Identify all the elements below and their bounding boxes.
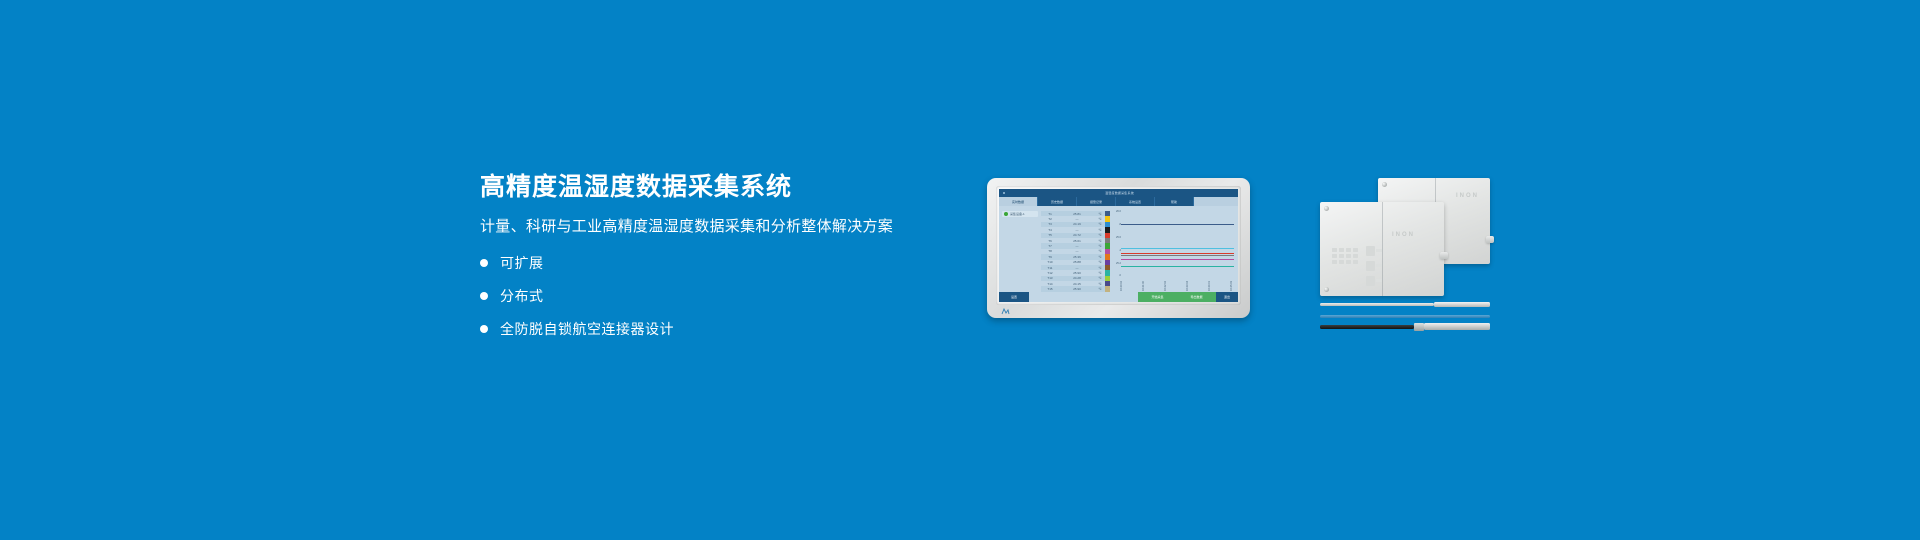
table-row[interactable]: T4---℃ [1041, 227, 1105, 232]
monitor-logo-icon [1001, 308, 1010, 315]
x-axis-tick: 16:25:03 [1231, 279, 1234, 291]
channel-name: T10 [1041, 260, 1059, 264]
device-tree-panel: 采集设备-1 [999, 206, 1041, 292]
feature-item-2: 全防脱自锁航空连接器设计 [480, 319, 950, 339]
chart-plot-area [1121, 211, 1234, 278]
y-axis-tick: 25.2 [1112, 263, 1121, 266]
chart-series-line [1121, 255, 1234, 256]
enclosure-seam [1382, 202, 1383, 296]
channel-unit: ℃ [1095, 287, 1105, 291]
y-axis-tick: .0 [1112, 275, 1121, 278]
footer-spacer [1029, 292, 1138, 302]
probe-cable [1320, 325, 1414, 329]
channel-value: --- [1059, 228, 1095, 232]
enclosure-connector-port [1440, 252, 1448, 259]
chart-series-line [1121, 266, 1234, 267]
channel-value: --- [1059, 266, 1095, 270]
channel-name: T1 [1041, 212, 1059, 216]
channel-value: 24.19 [1059, 222, 1095, 226]
channel-unit: ℃ [1095, 239, 1105, 243]
table-row[interactable]: T1025.88℃ [1041, 260, 1105, 265]
feature-label: 分布式 [500, 286, 544, 306]
tab-alarm-log[interactable]: 报警记录 [1077, 197, 1116, 206]
x-axis-tick: 16:24:01 [1209, 279, 1212, 291]
y-axis-tick: 26.0 [1112, 211, 1121, 214]
table-row[interactable]: T2---℃ [1041, 216, 1105, 221]
feature-list: 可扩展 分布式 全防脱自锁航空连接器设计 [480, 253, 950, 339]
channel-value: --- [1059, 249, 1095, 253]
brand-logo: INON [1456, 193, 1479, 199]
channel-unit: ℃ [1095, 271, 1105, 275]
channel-name: T3 [1041, 222, 1059, 226]
channel-unit: ℃ [1095, 266, 1105, 270]
blue-cable-probe [1320, 314, 1490, 319]
hero-banner: 高精度温湿度数据采集系统 计量、科研与工业高精度温湿度数据采集和分析整体解决方案… [0, 0, 1920, 540]
chart-y-axis: 26.0.825.6.425.2.0 [1112, 211, 1121, 278]
x-axis-tick: 16:23:04 [1187, 279, 1190, 291]
channel-value: 25.90 [1059, 271, 1095, 275]
enclosure-terminal-blocks [1366, 246, 1375, 286]
table-row[interactable]: T524.72℃ [1041, 233, 1105, 238]
channel-name: T9 [1041, 255, 1059, 259]
channel-name: T14 [1041, 282, 1059, 286]
x-axis-tick: 16:21:00 [1143, 279, 1146, 291]
bullet-dot-icon [480, 259, 488, 267]
enclosure-connector-port [1486, 236, 1494, 243]
channel-name: T12 [1041, 271, 1059, 275]
tab-history-data[interactable]: 历史数据 [1038, 197, 1077, 206]
table-row[interactable]: T8---℃ [1041, 249, 1105, 254]
channel-value: --- [1059, 217, 1095, 221]
start-acquisition-button[interactable]: 开始采集 [1138, 292, 1177, 302]
enclosure-screw-icon [1324, 287, 1329, 292]
bullet-dot-icon [480, 292, 488, 300]
table-row[interactable]: T925.36℃ [1041, 254, 1105, 259]
feature-label: 全防脱自锁航空连接器设计 [500, 319, 674, 339]
channel-unit: ℃ [1095, 228, 1105, 232]
device-tree-node-label: 采集设备-1 [1010, 212, 1025, 216]
settings-button[interactable]: 设置 [999, 292, 1029, 302]
stainless-temperature-probe [1320, 302, 1490, 307]
channel-name: T15 [1041, 287, 1059, 291]
table-row[interactable]: T625.61℃ [1041, 238, 1105, 243]
channel-unit: ℃ [1095, 212, 1105, 216]
chart-series-line [1121, 248, 1234, 249]
channel-name: T2 [1041, 217, 1059, 221]
software-body: 采集设备-1 T125.81℃T2---℃T324.19℃T4---℃T524.… [999, 206, 1238, 292]
tab-bar-filler [1194, 197, 1238, 206]
tab-help[interactable]: 帮助 [1155, 197, 1194, 206]
channel-value: 24.15 [1059, 282, 1095, 286]
hero-copy-block: 高精度温湿度数据采集系统 计量、科研与工业高精度温湿度数据采集和分析整体解决方案… [480, 172, 950, 352]
data-logger-enclosure-front: INON [1320, 202, 1444, 296]
monitor-product-image: 温湿度数据采集系统 实时数据 历史数据 报警记录 系统设置 帮助 [987, 178, 1250, 318]
table-row[interactable]: T1424.15℃ [1041, 281, 1105, 286]
y-axis-tick: 25.6 [1112, 237, 1121, 240]
feature-item-0: 可扩展 [480, 253, 950, 273]
x-axis-tick: 16:20:02 [1121, 279, 1124, 291]
probe-stem [1320, 303, 1434, 306]
table-row[interactable]: T125.81℃ [1041, 211, 1105, 216]
channel-value: --- [1059, 244, 1095, 248]
channel-name: T11 [1041, 266, 1059, 270]
exit-button[interactable]: 退出 [1216, 292, 1238, 302]
channel-unit: ℃ [1095, 233, 1105, 237]
channel-value: 25.90 [1059, 287, 1095, 291]
enclosure-screw-icon [1382, 182, 1387, 187]
channel-unit: ℃ [1095, 255, 1105, 259]
channel-name: T4 [1041, 228, 1059, 232]
chart-series-line [1121, 224, 1234, 225]
channel-unit: ℃ [1095, 260, 1105, 264]
channel-name: T7 [1041, 244, 1059, 248]
page-subtitle: 计量、科研与工业高精度温湿度数据采集和分析整体解决方案 [480, 216, 950, 237]
enclosure-vent-grid [1332, 248, 1358, 264]
chart-series-line [1121, 253, 1234, 254]
software-tab-bar: 实时数据 历史数据 报警记录 系统设置 帮助 [999, 197, 1238, 206]
table-row[interactable]: T324.19℃ [1041, 222, 1105, 227]
table-row[interactable]: T7---℃ [1041, 243, 1105, 248]
aviation-connector-probe [1320, 324, 1490, 329]
channel-table: T125.81℃T2---℃T324.19℃T4---℃T524.72℃T625… [1041, 206, 1105, 292]
software-title-bar: 温湿度数据采集系统 [999, 189, 1238, 197]
channel-value: 24.72 [1059, 233, 1095, 237]
channel-value: 25.36 [1059, 255, 1095, 259]
feature-label: 可扩展 [500, 253, 544, 273]
chart-series-line [1121, 259, 1234, 260]
channel-name: T6 [1041, 239, 1059, 243]
software-footer-bar: 设置 开始采集 导出数据 退出 [999, 292, 1238, 302]
table-row[interactable]: T1324.28℃ [1041, 276, 1105, 281]
channel-value: 25.81 [1059, 212, 1095, 216]
channel-unit: ℃ [1095, 222, 1105, 226]
hardware-product-image: INON INON [1320, 178, 1490, 318]
chart-x-axis: 16:20:0216:21:0016:22:0216:23:0416:24:01… [1121, 279, 1234, 291]
channel-unit: ℃ [1095, 217, 1105, 221]
brand-logo: INON [1392, 232, 1415, 238]
export-data-button[interactable]: 导出数据 [1177, 292, 1216, 302]
channel-unit: ℃ [1095, 282, 1105, 286]
status-dot-icon [1004, 212, 1008, 216]
table-row[interactable]: T11---℃ [1041, 265, 1105, 270]
feature-item-1: 分布式 [480, 286, 950, 306]
monitor-inner-bezel: 温湿度数据采集系统 实时数据 历史数据 报警记录 系统设置 帮助 [996, 186, 1241, 305]
window-title: 温湿度数据采集系统 [1005, 191, 1234, 195]
probe-aviation-connector [1424, 323, 1490, 330]
channel-unit: ℃ [1095, 244, 1105, 248]
monitor-screen: 温湿度数据采集系统 实时数据 历史数据 报警记录 系统设置 帮助 [999, 189, 1238, 302]
channel-value: 24.28 [1059, 276, 1095, 280]
bullet-dot-icon [480, 325, 488, 333]
monitor-bezel: 温湿度数据采集系统 实时数据 历史数据 报警记录 系统设置 帮助 [987, 178, 1250, 318]
probe-tip [1434, 302, 1490, 307]
channel-value: 25.88 [1059, 260, 1095, 264]
probe-cable [1320, 315, 1490, 318]
channel-unit: ℃ [1095, 276, 1105, 280]
trend-chart: 26.0.825.6.425.2.0 16:20:0216:21:0016:22… [1110, 206, 1238, 292]
table-row[interactable]: T1225.90℃ [1041, 270, 1105, 275]
channel-unit: ℃ [1095, 249, 1105, 253]
tab-settings[interactable]: 系统设置 [1116, 197, 1155, 206]
page-title: 高精度温湿度数据采集系统 [480, 172, 950, 202]
y-axis-tick: .4 [1112, 250, 1121, 253]
channel-value: 25.61 [1059, 239, 1095, 243]
probe-locking-nut [1414, 323, 1424, 331]
x-axis-tick: 16:22:02 [1165, 279, 1168, 291]
y-axis-tick: .8 [1112, 224, 1121, 227]
device-tree-node[interactable]: 采集设备-1 [1002, 211, 1038, 217]
enclosure-screw-icon [1324, 206, 1329, 211]
channel-name: T13 [1041, 276, 1059, 280]
tab-realtime-data[interactable]: 实时数据 [999, 197, 1038, 206]
channel-name: T5 [1041, 233, 1059, 237]
channel-name: T8 [1041, 249, 1059, 253]
